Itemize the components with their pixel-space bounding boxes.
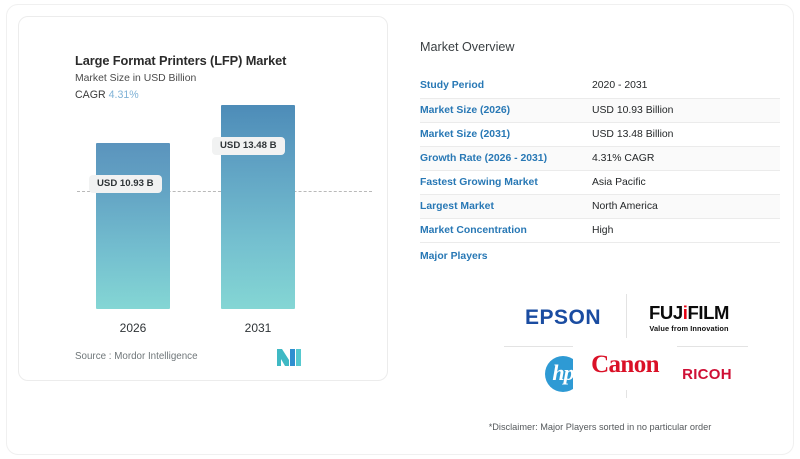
screenshot-root: Large Format Printers (LFP) Market Marke… [0, 0, 800, 459]
row-value: USD 10.93 Billion [592, 98, 780, 122]
fujifilm-tagline: Value from Innovation [649, 325, 729, 332]
market-size-chart-card: Large Format Printers (LFP) Market Marke… [18, 16, 388, 381]
row-value: 2020 - 2031 [592, 74, 780, 98]
logo-canon: Canon [573, 338, 677, 390]
row-value: North America [592, 194, 780, 218]
cagr-row: CAGR4.31% [75, 89, 139, 101]
market-overview-table: Study Period 2020 - 2031 Market Size (20… [420, 74, 780, 266]
cagr-label: CAGR [75, 89, 106, 101]
row-value: Asia Pacific [592, 170, 780, 194]
row-key: Largest Market [420, 194, 592, 218]
cagr-value: 4.31% [109, 89, 139, 101]
table-row: Largest Market North America [420, 194, 780, 218]
bar-2031 [221, 105, 295, 309]
fujifilm-word-a: FUJ [649, 302, 683, 323]
table-row: Growth Rate (2026 - 2031) 4.31% CAGR [420, 146, 780, 170]
chart-title: Large Format Printers (LFP) Market [75, 53, 286, 68]
logo-fujifilm: FUJiFILM Value from Innovation [628, 292, 750, 344]
row-key: Growth Rate (2026 - 2031) [420, 146, 592, 170]
row-value [592, 242, 780, 266]
bar-2026 [96, 143, 170, 309]
table-row: Study Period 2020 - 2031 [420, 74, 780, 98]
chart-subtitle: Market Size in USD Billion [75, 73, 196, 84]
row-key: Market Size (2031) [420, 122, 592, 146]
row-key: Fastest Growing Market [420, 170, 592, 194]
mordor-intelligence-logo-icon [277, 349, 301, 366]
bar-value-label-2026: USD 10.93 B [89, 175, 162, 193]
row-value: High [592, 218, 780, 242]
row-key: Market Size (2026) [420, 98, 592, 122]
x-axis-tick-2031: 2031 [221, 321, 295, 335]
ricoh-wordmark: RICOH [682, 366, 732, 383]
x-axis-tick-2026: 2026 [96, 321, 170, 335]
table-row: Market Concentration High [420, 218, 780, 242]
table-row: Market Size (2026) USD 10.93 Billion [420, 98, 780, 122]
market-overview-panel: Market Overview Study Period 2020 - 2031… [420, 40, 782, 266]
table-row-major-players: Major Players [420, 242, 780, 266]
table-row: Fastest Growing Market Asia Pacific [420, 170, 780, 194]
logo-epson: EPSON [502, 292, 624, 344]
row-key: Market Concentration [420, 218, 592, 242]
row-value: USD 13.48 Billion [592, 122, 780, 146]
market-overview-title: Market Overview [420, 40, 782, 54]
row-key: Major Players [420, 242, 592, 266]
canon-wordmark: Canon [591, 352, 659, 377]
fujifilm-wordmark: FUJiFILM [649, 304, 729, 323]
fujifilm-word-b: FILM [687, 302, 729, 323]
hp-wordmark: hp [552, 362, 573, 384]
source-attribution: Source : Mordor Intelligence [75, 351, 198, 362]
table-row: Market Size (2031) USD 13.48 Billion [420, 122, 780, 146]
row-value: 4.31% CAGR [592, 146, 780, 170]
row-key: Study Period [420, 74, 592, 98]
bar-value-label-2031: USD 13.48 B [212, 137, 285, 155]
epson-wordmark: EPSON [525, 306, 601, 330]
bar-chart-plot-area: USD 10.93 B USD 13.48 B 2026 2031 [20, 127, 388, 357]
major-players-disclaimer: *Disclaimer: Major Players sorted in no … [422, 422, 778, 432]
